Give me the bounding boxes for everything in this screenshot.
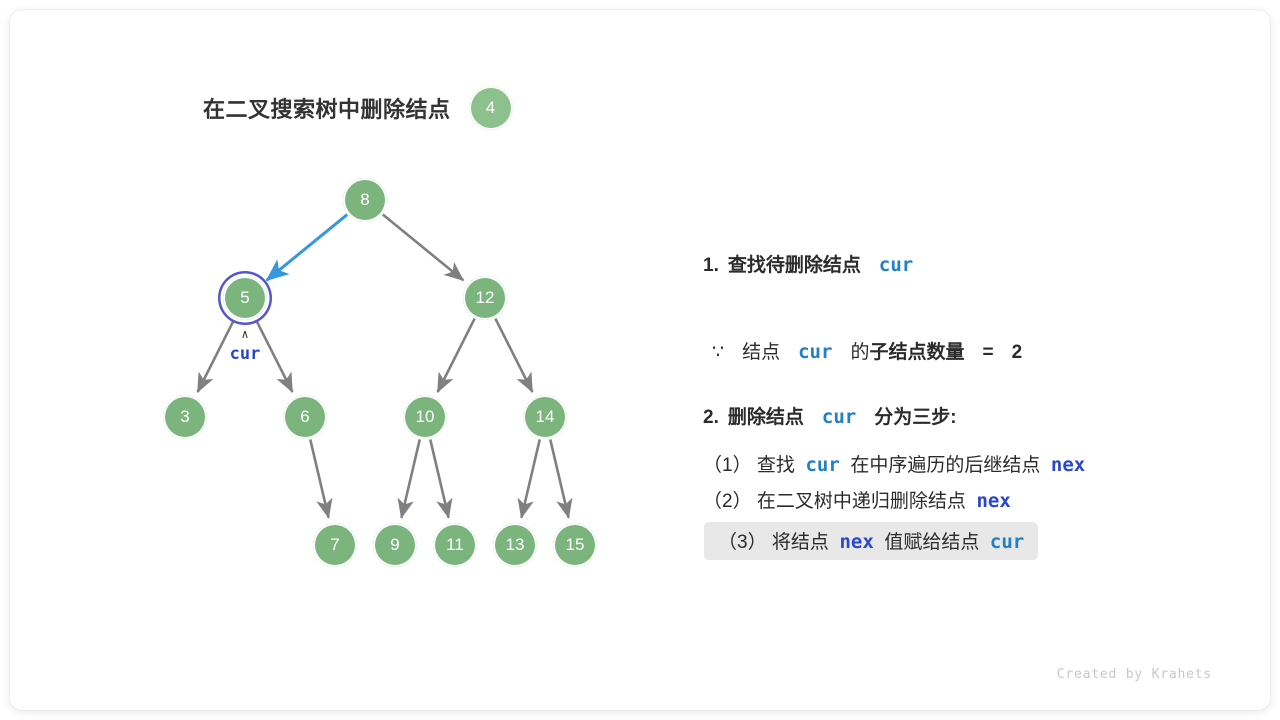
tree-edge-14-to-15 [550,439,568,517]
reason-middle: 的 [850,337,869,364]
tree-node-13: 13 [493,523,537,567]
step-1-line: 1. 查找待删除结点 cur [703,250,1228,277]
substep-text-1-b: 在中序遍历的后继结点 [850,450,1040,477]
substep-number-3: （3） [718,527,767,554]
substep-group: （1） 查找 cur 在中序遍历的后继结点 nex（2） 在二叉树中递归删除结点… [688,450,1228,560]
substep-text-2-a: 在二叉树中递归删除结点 [757,486,966,513]
tree-node-7: 7 [313,523,357,567]
step-2-prefix: 删除结点 [728,402,804,429]
spacer [840,455,851,477]
tree-edge-8-to-5 [267,215,347,281]
step-1-var-cur: cur [879,254,913,276]
tree-edge-5-to-6 [255,319,292,392]
substep-text-1-a: 查找 [757,450,795,477]
tree-edge-8-to-12 [383,215,463,281]
step-2-var-cur: cur [822,406,856,428]
reason-prefix: 结点 [742,337,780,364]
spacer [979,532,990,554]
footer-credit: Created by Krahets [1057,667,1212,682]
substep-content: （1） 查找 cur 在中序遍历的后继结点 nex [703,450,1085,477]
substep-var-nex-2-1: nex [976,490,1010,512]
reason-line: ∵ 结点 cur 的 子结点数量 = 2 [712,337,1228,364]
substep-row-1: （1） 查找 cur 在中序遍历的后继结点 nex [703,450,1228,477]
reason-value: 2 [1012,342,1023,364]
spacer [966,491,977,513]
tree-edge-14-to-13 [521,439,539,517]
step-2-line: 2. 删除结点 cur 分为三步: [703,402,1228,429]
tree-edge-6-to-7 [310,439,328,517]
tree-node-9: 9 [373,523,417,567]
spacer [795,455,806,477]
substep-row-2: （2） 在二叉树中递归删除结点 nex [703,486,1228,513]
substep-var-nex-1-2: nex [1051,454,1085,476]
spacer [874,532,885,554]
substep-row-3: （3） 将结点 nex 值赋给结点 cur [703,522,1228,560]
substep-number-1: （1） [703,450,752,477]
substep-var-nex-3-1: nex [839,531,873,553]
tree-node-11: 11 [433,523,477,567]
substep-text-3-a: 将结点 [772,527,829,554]
tree-edges-svg [10,10,670,710]
tree-node-6: 6 [283,395,327,439]
substep-var-cur-3-2: cur [990,531,1024,553]
spacer [829,532,840,554]
step-1-text: 查找待删除结点 [728,250,861,277]
substep-text-3-b: 值赋给结点 [884,527,979,554]
step-1-number: 1. [703,255,719,277]
cur-pointer-label: cur [230,344,261,364]
substep-highlight-box: （3） 将结点 nex 值赋给结点 cur [704,522,1038,560]
reason-symbol: ∵ [712,341,724,364]
tree-node-15: 15 [553,523,597,567]
tree-node-14: 14 [523,395,567,439]
tree-node-3: 3 [163,395,207,439]
tree-node-12: 12 [463,276,507,320]
substep-content: （2） 在二叉树中递归删除结点 nex [703,486,1011,513]
tree-edge-12-to-14 [495,319,532,392]
reason-equals: = [982,342,993,364]
tree-edge-10-to-9 [401,439,419,517]
diagram-card: 在二叉搜索树中删除结点 4 851236101479111315 ∧ cur 1… [10,10,1270,710]
spacer-block [688,277,1228,315]
spacer [1040,455,1051,477]
tree-edge-group [198,215,569,518]
binary-search-tree-diagram: 851236101479111315 ∧ cur [10,10,670,710]
explanation-panel: 1. 查找待删除结点 cur ∵ 结点 cur 的 子结点数量 = 2 [688,250,1228,560]
reason-var-cur: cur [798,341,832,363]
tree-node-5: 5 [223,276,267,320]
spacer-block [688,429,1228,441]
tree-node-8: 8 [343,178,387,222]
step-2-suffix: 分为三步: [874,402,956,429]
substep-var-cur-1-1: cur [805,454,839,476]
tree-node-10: 10 [403,395,447,439]
reason-bold-part: 子结点数量 [869,337,964,364]
substep-number-2: （2） [703,486,752,513]
spacer-block [688,364,1228,402]
step-2-number: 2. [703,407,719,429]
tree-edge-10-to-11 [430,439,448,517]
cur-pointer-caret: ∧ [241,328,248,340]
tree-edge-12-to-10 [438,319,475,392]
